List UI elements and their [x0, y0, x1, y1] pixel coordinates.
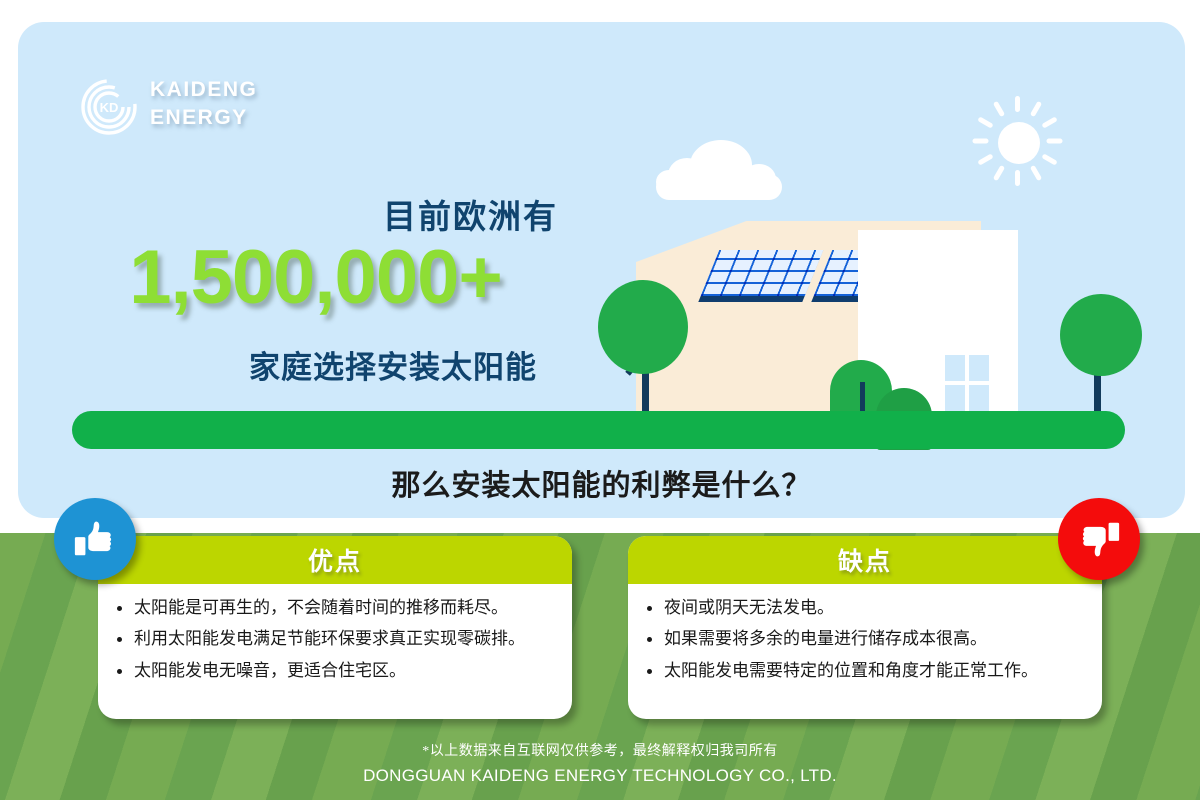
solar-panel: [701, 250, 824, 296]
brand-name-line1: KAIDENG: [150, 76, 257, 104]
kd-spiral-logo-icon: KD: [80, 78, 138, 136]
hero-kicker: 目前欧洲有: [348, 190, 558, 238]
svg-text:KD: KD: [100, 100, 119, 115]
ground-bar: [72, 411, 1125, 449]
cons-title: 缺点: [838, 542, 892, 578]
thumbs-down-icon: [1076, 516, 1122, 562]
cons-card-body: 夜间或阴天无法发电。 如果需要将多余的电量进行储存成本很高。 太阳能发电需要特定…: [628, 584, 1102, 681]
list-item: 夜间或阴天无法发电。: [644, 598, 1086, 618]
thumbs-up-badge: [54, 498, 136, 580]
hero-big-number: 1,500,000+: [68, 240, 563, 316]
thumbs-up-icon: [72, 516, 118, 562]
window-frame: [945, 355, 989, 411]
pros-card: 优点 太阳能是可再生的，不会随着时间的推移而耗尽。 利用太阳能发电满足节能环保要…: [98, 536, 572, 719]
hero-subline: 家庭选择安装太阳能: [223, 342, 563, 387]
list-item: 利用太阳能发电满足节能环保要求真正实现零碳排。: [114, 629, 556, 649]
list-item: 太阳能是可再生的，不会随着时间的推移而耗尽。: [114, 598, 556, 618]
footer: *以上数据来自互联网仅供参考，最终解释权归我司所有 DONGGUAN KAIDE…: [0, 740, 1200, 786]
cloud-icon: [656, 140, 782, 200]
footer-company: DONGGUAN KAIDENG ENERGY TECHNOLOGY CO., …: [0, 766, 1200, 786]
list-item: 太阳能发电需要特定的位置和角度才能正常工作。: [644, 661, 1086, 681]
hero-sky-panel: KD KAIDENG ENERGY 目前欧洲有 1,500,000+ 家庭选择安…: [18, 22, 1185, 518]
pros-title: 优点: [308, 542, 362, 578]
brand-name: KAIDENG ENERGY: [150, 76, 257, 133]
list-item: 如果需要将多余的电量进行储存成本很高。: [644, 629, 1086, 649]
cons-card-header: 缺点: [628, 536, 1102, 584]
pros-card-header: 优点: [98, 536, 572, 584]
infographic-page: KD KAIDENG ENERGY 目前欧洲有 1,500,000+ 家庭选择安…: [0, 0, 1200, 800]
brand-logo: KD KAIDENG ENERGY: [80, 74, 320, 148]
thumbs-down-badge: [1058, 498, 1140, 580]
brand-name-line2: ENERGY: [150, 104, 257, 132]
pros-card-body: 太阳能是可再生的，不会随着时间的推移而耗尽。 利用太阳能发电满足节能环保要求真正…: [98, 584, 572, 681]
cons-card: 缺点 夜间或阴天无法发电。 如果需要将多余的电量进行储存成本很高。 太阳能发电需…: [628, 536, 1102, 719]
sun-icon: [972, 96, 1062, 186]
tree-crown: [598, 280, 688, 374]
tree-crown: [1060, 294, 1142, 376]
footer-disclaimer: *以上数据来自互联网仅供参考，最终解释权归我司所有: [0, 740, 1200, 760]
list-item: 太阳能发电无噪音，更适合住宅区。: [114, 661, 556, 681]
hero-question: 那么安装太阳能的利弊是什么？: [18, 462, 1185, 504]
